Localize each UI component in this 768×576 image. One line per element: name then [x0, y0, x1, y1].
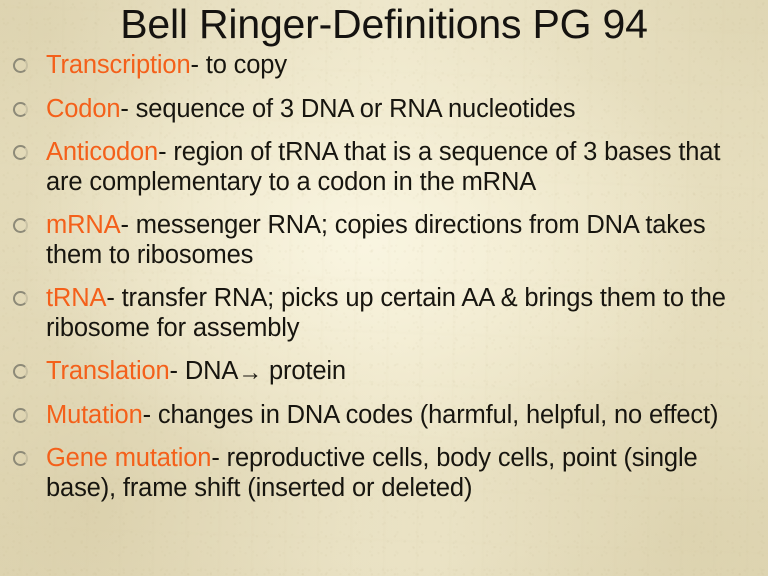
open-circle-bullet-icon [13, 408, 28, 423]
list-item: mRNA- messenger RNA; copies directions f… [0, 211, 768, 270]
list-item: tRNA- transfer RNA; picks up certain AA … [0, 284, 768, 343]
term-label: Anticodon [46, 138, 158, 166]
list-item: Mutation- changes in DNA codes (harmful,… [0, 401, 768, 431]
definition-text: mRNA- messenger RNA; copies directions f… [46, 211, 706, 269]
presentation-slide: Bell Ringer-Definitions PG 94 Transcript… [0, 0, 768, 576]
list-item: Transcription- to copy [0, 51, 768, 81]
open-circle-bullet-icon [13, 218, 28, 233]
definition-text: tRNA- transfer RNA; picks up certain AA … [46, 284, 726, 342]
definition-text: Translation- DNA→ protein [46, 357, 346, 385]
definition-text: Mutation- changes in DNA codes (harmful,… [46, 401, 718, 429]
definition-body: - sequence of 3 DNA or RNA nucleotides [120, 95, 575, 123]
term-label: Mutation [46, 401, 143, 429]
definition-body: - changes in DNA codes (harmful, helpful… [143, 401, 719, 429]
list-item: Anticodon- region of tRNA that is a sequ… [0, 138, 768, 197]
definition-text: Anticodon- region of tRNA that is a sequ… [46, 138, 720, 196]
term-label: Transcription [46, 51, 191, 79]
definition-body: - messenger RNA; copies directions from … [46, 211, 706, 269]
definition-text: Gene mutation- reproductive cells, body … [46, 444, 698, 502]
term-label: Gene mutation [46, 444, 211, 472]
open-circle-bullet-icon [13, 364, 28, 379]
open-circle-bullet-icon [13, 145, 28, 160]
definition-body: - transfer RNA; picks up certain AA & br… [46, 284, 726, 342]
list-item: Translation- DNA→ protein [0, 357, 768, 387]
term-label: mRNA [46, 211, 120, 239]
definition-body-continued: protein [262, 357, 346, 385]
term-label: tRNA [46, 284, 106, 312]
term-label: Translation [46, 357, 170, 385]
right-arrow-icon: → [238, 358, 262, 388]
definition-body: - DNA [170, 357, 239, 385]
slide-title: Bell Ringer-Definitions PG 94 [0, 0, 768, 49]
open-circle-bullet-icon [13, 451, 28, 466]
definition-text: Transcription- to copy [46, 51, 287, 79]
slide-content: Bell Ringer-Definitions PG 94 Transcript… [0, 0, 768, 576]
term-label: Codon [46, 95, 120, 123]
open-circle-bullet-icon [13, 58, 28, 73]
definition-body: - to copy [191, 51, 287, 79]
open-circle-bullet-icon [13, 291, 28, 306]
definition-text: Codon- sequence of 3 DNA or RNA nucleoti… [46, 95, 575, 123]
list-item: Codon- sequence of 3 DNA or RNA nucleoti… [0, 95, 768, 125]
open-circle-bullet-icon [13, 102, 28, 117]
definitions-list: Transcription- to copy Codon- sequence o… [0, 51, 768, 517]
list-item: Gene mutation- reproductive cells, body … [0, 444, 768, 503]
